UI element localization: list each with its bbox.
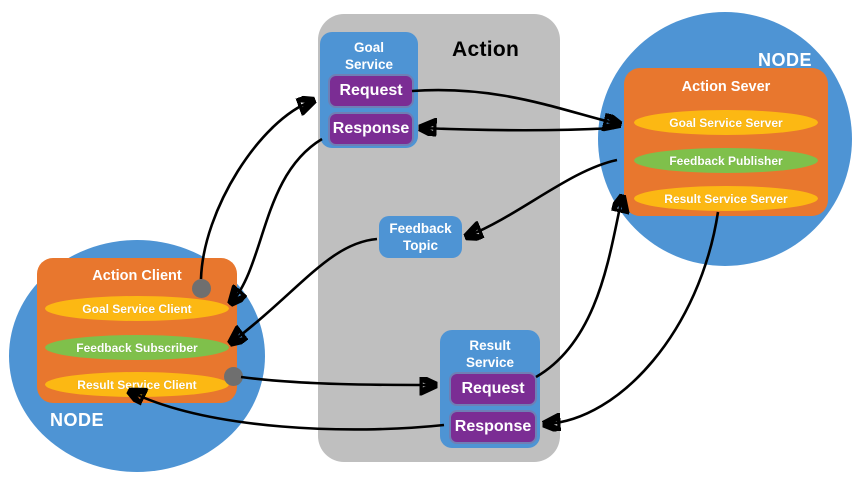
pill-goal-service-client[interactable]: Goal Service Client [45,296,229,321]
goal-service-title-line1: Goal [354,40,384,55]
diagram-canvas: Action NODE Action Sever Goal Service Se… [0,0,854,480]
pill-feedback-subscriber[interactable]: Feedback Subscriber [45,335,229,360]
goal-service-box: Goal Service Request Response [320,32,418,148]
pill-goal-service-server[interactable]: Goal Service Server [634,110,818,135]
pill-result-service-server[interactable]: Result Service Server [634,186,818,211]
result-service-title-line2: Service [466,355,514,370]
result-service-title-line1: Result [469,338,510,353]
goal-service-title: Goal Service [320,39,418,73]
result-service-request[interactable]: Request [449,372,537,406]
feedback-topic-line1: Feedback [389,221,451,236]
edge-goal-response-to-client [232,139,322,302]
goal-service-request[interactable]: Request [328,74,414,108]
action-server-inner-box: Action Sever Goal Service Server Feedbac… [624,68,828,216]
feedback-topic-line2: Topic [403,238,438,253]
pill-feedback-publisher[interactable]: Feedback Publisher [634,148,818,173]
feedback-topic-label: Feedback Topic [389,220,451,254]
action-client-inner-box: Action Client Goal Service Client Feedba… [37,258,237,403]
result-service-title: Result Service [440,337,540,371]
edge-goal-client-to-request [201,101,312,279]
feedback-topic-box[interactable]: Feedback Topic [379,216,462,258]
connector-dot-result-client [224,367,243,386]
action-group-title: Action [452,38,519,62]
goal-service-title-line2: Service [345,57,393,72]
action-client-node-label: NODE [50,410,104,431]
connector-dot-goal-client [192,279,211,298]
pill-result-service-client[interactable]: Result Service Client [45,372,229,397]
goal-service-response[interactable]: Response [328,112,414,146]
action-server-title: Action Sever [624,79,828,95]
result-service-response[interactable]: Response [449,410,537,444]
result-service-box: Result Service Request Response [440,330,540,448]
